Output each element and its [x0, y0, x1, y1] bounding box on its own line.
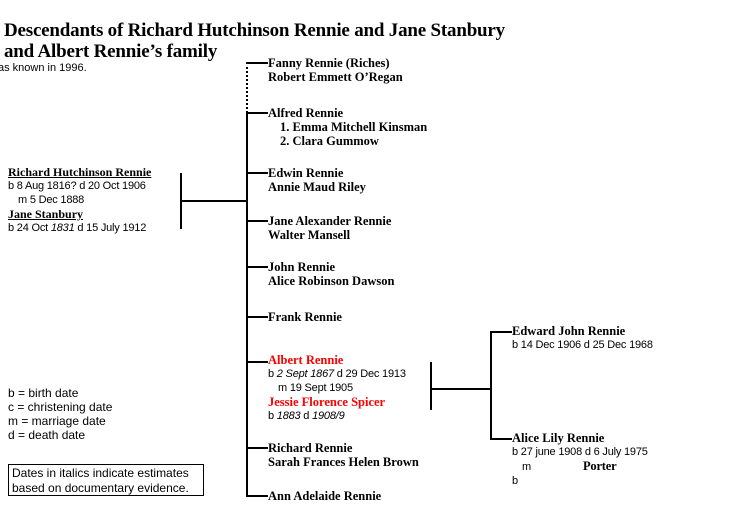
child-branch-stub: [246, 316, 268, 318]
child-entry-frank-rennie: Frank Rennie: [268, 310, 342, 324]
child-branch-stub: [246, 62, 268, 64]
chart-title-line-2: and Albert Rennie’s family: [4, 41, 217, 63]
child-branch-stub: [246, 266, 268, 268]
child-spouse: Robert Emmett O’Regan: [268, 70, 403, 84]
child-spouse: Alice Robinson Dawson: [268, 274, 394, 288]
child-branch-stub: [246, 172, 268, 174]
child-branch-stub: [246, 361, 268, 363]
children-spine: [246, 112, 248, 496]
child-spouse-highlighted: Jessie Florence Spicer: [268, 395, 406, 409]
root-person1-dates: b 8 Aug 1816? d 20 Oct 1906: [8, 179, 188, 193]
key-line-christening: c = christening date: [8, 400, 112, 414]
child-name: Fanny Rennie (Riches): [268, 56, 403, 70]
child-spouse: Walter Mansell: [268, 228, 391, 242]
note-line-1: Dates in italics indicate estimates: [12, 466, 203, 481]
key-line-marriage: m = marriage date: [8, 414, 112, 428]
child-spouse: Sarah Frances Helen Brown: [268, 455, 419, 469]
child-branch-stub: [246, 495, 268, 497]
child-spouse-2: 2. Clara Gummow: [268, 134, 427, 148]
grandchild-entry-edward-john-rennie: Edward John Rennie b 14 Dec 1906 d 25 De…: [512, 324, 653, 352]
child-name: Richard Rennie: [268, 441, 419, 455]
key-line-birth: b = birth date: [8, 386, 112, 400]
child-dates: b 2 Sept 1867 d 29 Dec 1913: [268, 367, 406, 381]
italics-note-box: Dates in italics indicate estimates base…: [8, 464, 204, 496]
child-marriage-date: m 19 Sept 1905: [268, 381, 406, 395]
estimated-date: 1883: [277, 410, 301, 422]
grandchild-spouse-surname: Porter: [583, 459, 617, 473]
family-tree-chart: Descendants of Richard Hutchinson Rennie…: [0, 0, 752, 505]
grandchild-branch-stub: [490, 438, 512, 440]
root-person2-dates: b 24 Oct 1831 d 15 July 1912: [8, 221, 188, 235]
root-person2-name: Jane Stanbury: [8, 207, 188, 221]
children-spine-dotted: [246, 62, 248, 113]
grandchild-name: Alice Lily Rennie: [512, 431, 648, 445]
child-entry-richard-rennie: Richard Rennie Sarah Frances Helen Brown: [268, 441, 419, 469]
child-entry-alfred-rennie: Alfred Rennie 1. Emma Mitchell Kinsman 2…: [268, 106, 427, 148]
grandchildren-spine: [490, 331, 492, 439]
grandchild-entry-alice-lily-rennie: Alice Lily Rennie b 27 june 1908 d 6 Jul…: [512, 431, 648, 488]
child-name: Alfred Rennie: [268, 106, 427, 120]
child-entry-john-rennie: John Rennie Alice Robinson Dawson: [268, 260, 394, 288]
key-line-death: d = death date: [8, 428, 112, 442]
child-name: John Rennie: [268, 260, 394, 274]
root-couple-block: Richard Hutchinson Rennie b 8 Aug 1816? …: [8, 165, 188, 235]
albert-to-children-line: [430, 388, 491, 390]
grandchild-branch-stub: [490, 331, 512, 333]
estimated-date: 1831: [51, 222, 75, 234]
child-name-highlighted: Albert Rennie: [268, 353, 406, 367]
albert-marriage-bar: [430, 362, 432, 410]
note-line-2: based on documentary evidence.: [12, 481, 203, 496]
child-branch-stub: [246, 447, 268, 449]
child-entry-edwin-rennie: Edwin Rennie Annie Maud Riley: [268, 166, 366, 194]
child-name: Edwin Rennie: [268, 166, 366, 180]
grandchild-dates: b 14 Dec 1906 d 25 Dec 1968: [512, 338, 653, 352]
child-branch-stub: [246, 220, 268, 222]
child-name: Jane Alexander Rennie: [268, 214, 391, 228]
child-spouse: Annie Maud Riley: [268, 180, 366, 194]
chart-subtitle: as known in 1996.: [0, 62, 87, 75]
estimated-date: 2 Sept 1867: [277, 368, 334, 380]
abbreviation-key: b = birth date c = christening date m = …: [8, 386, 112, 442]
child-entry-ann-adelaide-rennie: Ann Adelaide Rennie: [268, 489, 381, 503]
child-entry-jane-alexander-rennie: Jane Alexander Rennie Walter Mansell: [268, 214, 391, 242]
grandchild-name: Edward John Rennie: [512, 324, 653, 338]
child-spouse-1: 1. Emma Mitchell Kinsman: [268, 120, 427, 134]
root-marriage-date: m 5 Dec 1888: [8, 193, 188, 207]
grandchild-birth-prefix: b: [512, 474, 648, 488]
child-spouse-dates: b 1883 d 1908/9: [268, 409, 406, 423]
child-name: Ann Adelaide Rennie: [268, 489, 381, 503]
child-entry-fanny-rennie: Fanny Rennie (Riches) Robert Emmett O’Re…: [268, 56, 403, 84]
root-person1-name: Richard Hutchinson Rennie: [8, 165, 188, 179]
child-branch-stub: [246, 112, 268, 114]
root-to-children-line: [180, 200, 247, 202]
child-entry-albert-rennie: Albert Rennie b 2 Sept 1867 d 29 Dec 191…: [268, 353, 406, 423]
estimated-date: 1908/9: [312, 410, 344, 422]
grandchild-dates: b 27 june 1908 d 6 July 1975: [512, 445, 648, 459]
grandchild-marriage-line: mPorter: [512, 459, 648, 474]
chart-title-line-1: Descendants of Richard Hutchinson Rennie…: [4, 20, 505, 42]
child-name: Frank Rennie: [268, 310, 342, 324]
